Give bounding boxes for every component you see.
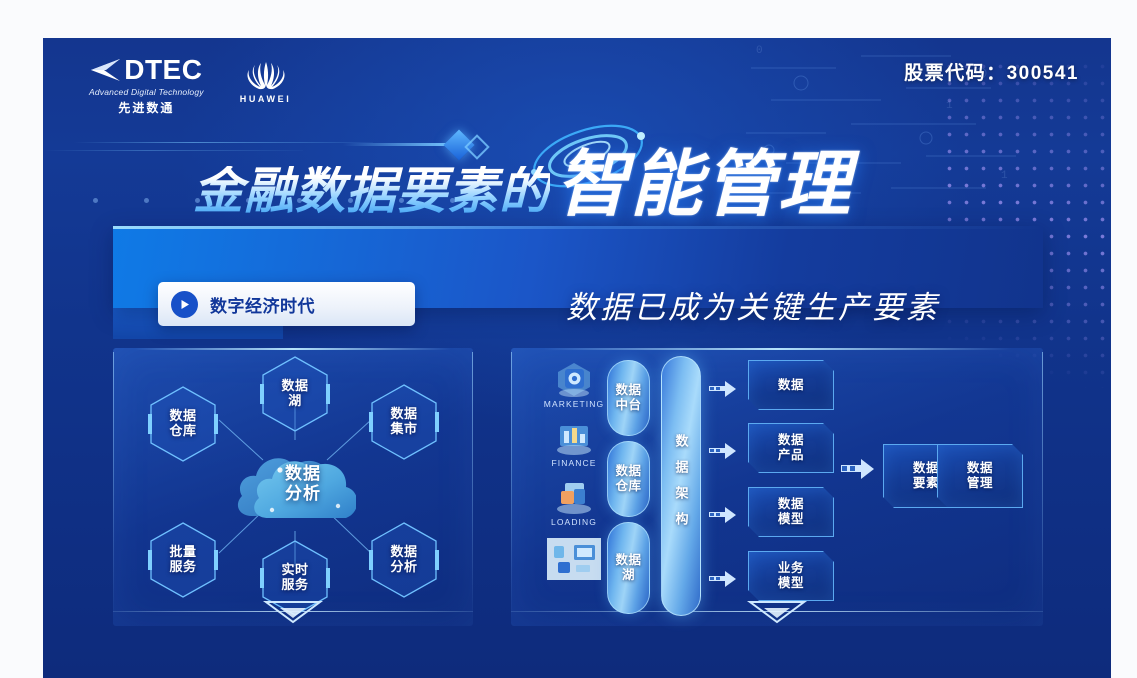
cube-icon [551,360,597,398]
source-item-2[interactable]: LOADING [533,478,615,537]
arrow-right-icon [709,380,737,398]
chart-box-icon [551,419,597,457]
chevron-down-icon [258,600,328,626]
hex-node-1[interactable]: 数据 湖 [259,354,331,434]
logo-group: DTEC Advanced Digital Technology 先进数通 HU… [89,56,291,116]
panel-top-edge [135,348,452,350]
dtec-tagline: Advanced Digital Technology [89,87,204,97]
platform-label: 数据 湖 [615,553,641,583]
slide-root: 0101 DTEC Advanced Digital Technology 先进… [43,38,1111,678]
arrow-right-icon [841,458,875,480]
cloud-hub-label: 数据 分析 [234,438,356,530]
source-item-0[interactable]: MARKETING [533,360,615,419]
svg-text:0: 0 [756,45,763,57]
source-caption: LOADING [551,517,597,527]
loading-box-icon [551,478,597,516]
hex-node-2[interactable]: 数据 集市 [368,382,440,462]
stock-code: 股票代码：300541 [904,58,1079,85]
chevron-down-icon [742,600,812,626]
platform-capsule-2[interactable]: 数据 湖 [607,522,650,614]
title-part-b: 智能管理 [556,150,852,218]
dtec-logo: DTEC Advanced Digital Technology 先进数通 [89,56,204,116]
output-chip-0[interactable]: 数据 [748,360,834,410]
section-tag-label: 数字经济时代 [210,292,315,317]
hex-node-label: 数据 分析 [390,545,417,575]
panel-right-edge [1042,352,1043,619]
output-label: 数据 模型 [778,497,804,527]
dtec-wordmark: DTEC [124,56,202,84]
huawei-flower-icon [243,58,289,90]
output-label: 业务 模型 [778,561,804,591]
source-item-1[interactable]: FINANCE [533,419,615,478]
final-label: 数据 管理 [967,461,993,491]
hex-node-label: 批量 服务 [169,545,196,575]
hex-node-3[interactable]: 批量 服务 [147,520,219,600]
arrow-right-icon [709,506,737,524]
panel-top-edge [543,348,1011,350]
output-chip-1[interactable]: 数据 产品 [748,423,834,473]
arrow-right-icon [709,570,737,588]
hex-node-label: 数据 仓库 [169,409,196,439]
architecture-label: 数据架构 [672,434,691,538]
source-icon-column: MARKETING FINANCE LOA [533,360,615,585]
dot-matrix-decoration [941,58,1111,388]
hex-node-5[interactable]: 数据 分析 [368,520,440,600]
title-line-decoration [343,143,448,146]
huawei-wordmark: HUAWEI [240,94,292,104]
source-caption: MARKETING [544,399,604,409]
arrow-right-icon [709,442,737,460]
main-title: 金融数据要素的 智能管理 [163,122,1063,217]
hex-node-0[interactable]: 数据 仓库 [147,384,219,464]
hex-node-label: 实时 服务 [281,563,308,593]
section-tag-pill[interactable]: 数字经济时代 [158,282,415,326]
right-panel: MARKETING FINANCE LOA [511,348,1043,626]
output-chip-2[interactable]: 数据 模型 [748,487,834,537]
architecture-capsule[interactable]: 数据架构 [661,356,701,616]
panel-left-edge [113,352,114,619]
banner-highlight [113,226,1043,229]
panel-left-edge [511,352,512,619]
play-icon [171,291,198,318]
output-label: 数据 产品 [778,433,804,463]
cloud-hub[interactable]: 数据 分析 [234,438,356,530]
source-item-3[interactable] [533,537,615,585]
platform-capsule-1[interactable]: 数据 仓库 [607,441,650,517]
hex-node-label: 数据 集市 [390,407,417,437]
dtec-chinese-name: 先进数通 [118,99,174,116]
title-part-a: 金融数据要素的 [193,166,550,218]
huawei-logo: HUAWEI [240,58,292,104]
platform-label: 数据 仓库 [615,464,641,494]
section-headline: 数据已成为关键生产要素 [473,274,1033,334]
final-chip[interactable]: 数据 管理 [937,444,1023,508]
output-label: 数据 [778,378,804,393]
output-chip-3[interactable]: 业务 模型 [748,551,834,601]
result-label: 数据 要素 [913,461,939,491]
hex-node-label: 数据 湖 [281,379,308,409]
platform-label: 数据 中台 [615,383,641,413]
platform-capsule-0[interactable]: 数据 中台 [607,360,650,436]
data-screen-icon [546,537,602,581]
panel-right-edge [472,352,473,619]
svg-text:1: 1 [946,100,953,112]
source-caption: FINANCE [551,458,596,468]
left-panel: 数据 仓库 数据 湖 数据 集市 批量 服务 [113,348,473,626]
dtec-mark-icon [90,57,124,83]
